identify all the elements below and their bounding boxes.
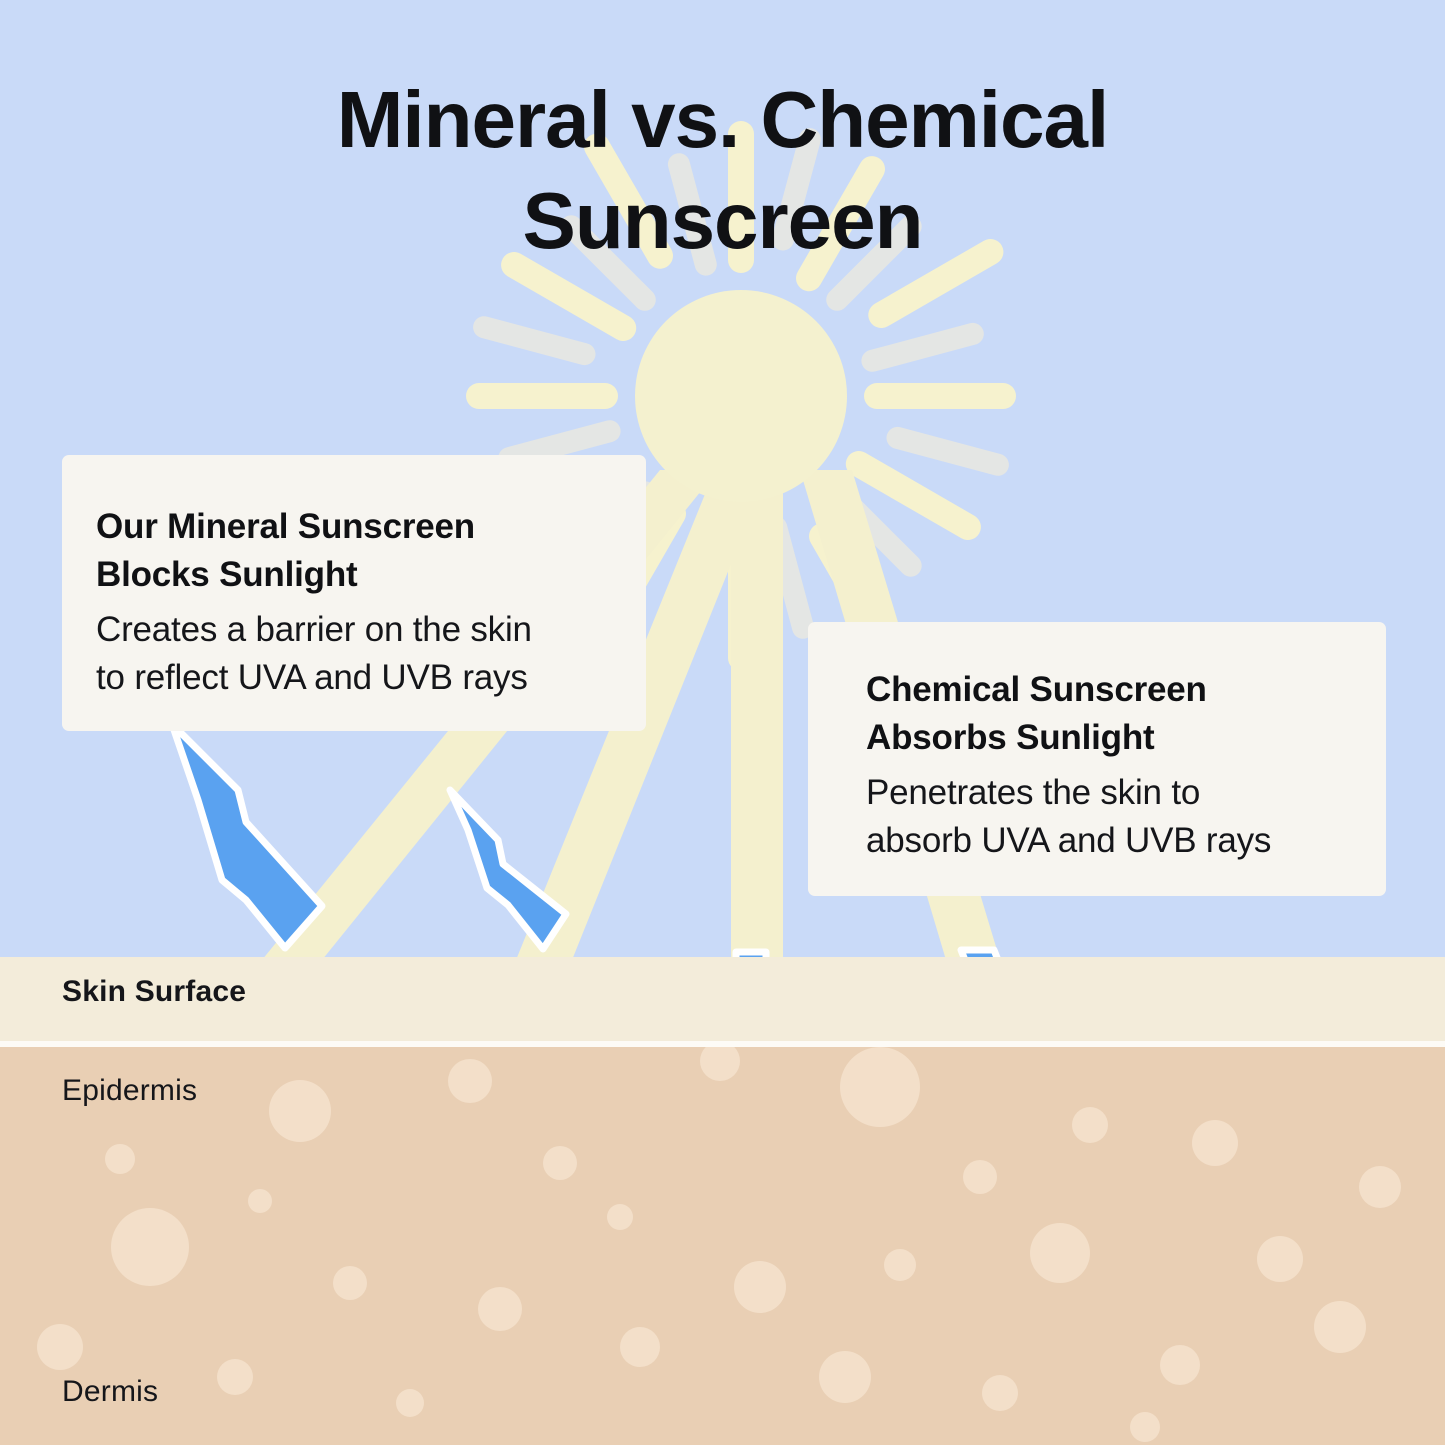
dermis-cell-bubble (1030, 1223, 1090, 1283)
dermis-cell-bubble (963, 1160, 997, 1194)
dermis-cell-bubble (1160, 1345, 1200, 1385)
page-title: Mineral vs. Chemical Sunscreen (0, 70, 1445, 272)
dermis-cell-bubble (982, 1375, 1018, 1411)
page-title-line-2: Sunscreen (0, 171, 1445, 272)
dermis-cell-bubble (448, 1059, 492, 1103)
dermis-cell-bubble (1072, 1107, 1108, 1143)
callout-mineral-sunscreen[interactable]: Our Mineral Sunscreen Blocks Sunlight Cr… (62, 455, 646, 731)
dermis-cell-bubble (1130, 1412, 1160, 1442)
epidermis-dermis-band (0, 1047, 1445, 1445)
dermis-cell-bubble (1314, 1301, 1366, 1353)
dermis-cell-bubble (840, 1047, 920, 1127)
dermis-cell-bubble (396, 1389, 424, 1417)
callout-chemical-body: Penetrates the skin to absorb UVA and UV… (866, 769, 1386, 866)
dermis-cell-bubble (819, 1351, 871, 1403)
dermis-cell-bubble (37, 1324, 83, 1370)
callout-chemical-sunscreen[interactable]: Chemical Sunscreen Absorbs Sunlight Pene… (808, 622, 1386, 896)
dermis-cell-bubble (1359, 1166, 1401, 1208)
dermis-cell-bubble (700, 1047, 740, 1081)
dermis-cell-bubble (333, 1266, 367, 1300)
callout-mineral-body: Creates a barrier on the skin to reflect… (96, 606, 646, 703)
dermis-cell-bubble (620, 1327, 660, 1367)
page-title-line-1: Mineral vs. Chemical (0, 70, 1445, 171)
dermis-cell-bubble (884, 1249, 916, 1281)
dermis-cell-bubble (734, 1261, 786, 1313)
callout-mineral-title: Our Mineral Sunscreen Blocks Sunlight (96, 503, 646, 600)
dermis-cell-bubble (111, 1208, 189, 1286)
dermis-cell-bubble (248, 1189, 272, 1213)
dermis-cell-bubble (1192, 1120, 1238, 1166)
dermis-cell-bubble (1257, 1236, 1303, 1282)
label-dermis: Dermis (62, 1375, 158, 1409)
infographic-canvas: Mineral vs. Chemical Sunscreen Skin Surf… (0, 0, 1445, 1445)
callout-chemical-title: Chemical Sunscreen Absorbs Sunlight (866, 666, 1386, 763)
dermis-cell-bubble (543, 1146, 577, 1180)
dermis-cell-bubble (607, 1204, 633, 1230)
dermis-cell-bubble (105, 1144, 135, 1174)
dermis-cell-bubble (269, 1080, 331, 1142)
label-skin-surface: Skin Surface (62, 975, 246, 1009)
dermis-cell-bubble (217, 1359, 253, 1395)
dermis-cell-bubble (478, 1287, 522, 1331)
label-epidermis: Epidermis (62, 1074, 197, 1108)
